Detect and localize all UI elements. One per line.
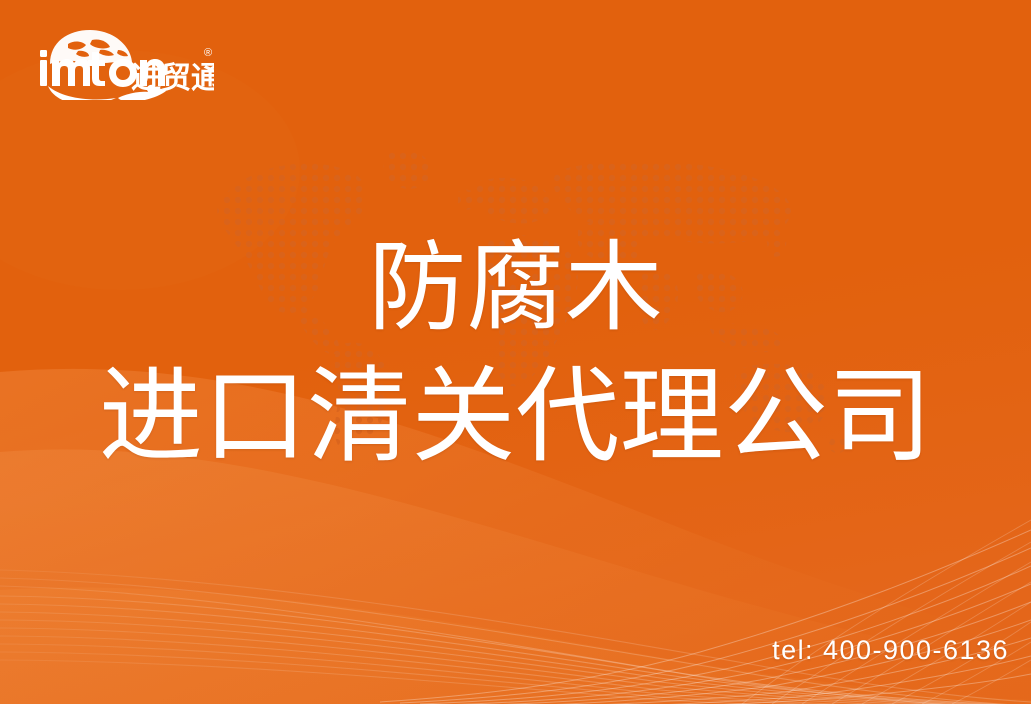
headline-line-2: 进口清关代理公司 [0,354,1031,481]
logo-chinese-name: 进贸通 [131,62,214,95]
brand-logo[interactable]: 进贸通 ® [34,28,214,100]
registered-trademark-icon: ® [204,47,212,59]
page-title: 防腐木 进口清关代理公司 [0,228,1031,480]
svg-text:®: ® [204,47,212,59]
globe-arc-icon [50,30,132,64]
promo-banner: 进贸通 ® 防腐木 进口清关代理公司 tel: 400-900-6136 [0,0,1031,704]
headline-line-1: 防腐木 [0,228,1031,348]
svg-text:进贸通: 进贸通 [131,62,214,95]
contact-telephone[interactable]: tel: 400-900-6136 [772,635,1009,666]
